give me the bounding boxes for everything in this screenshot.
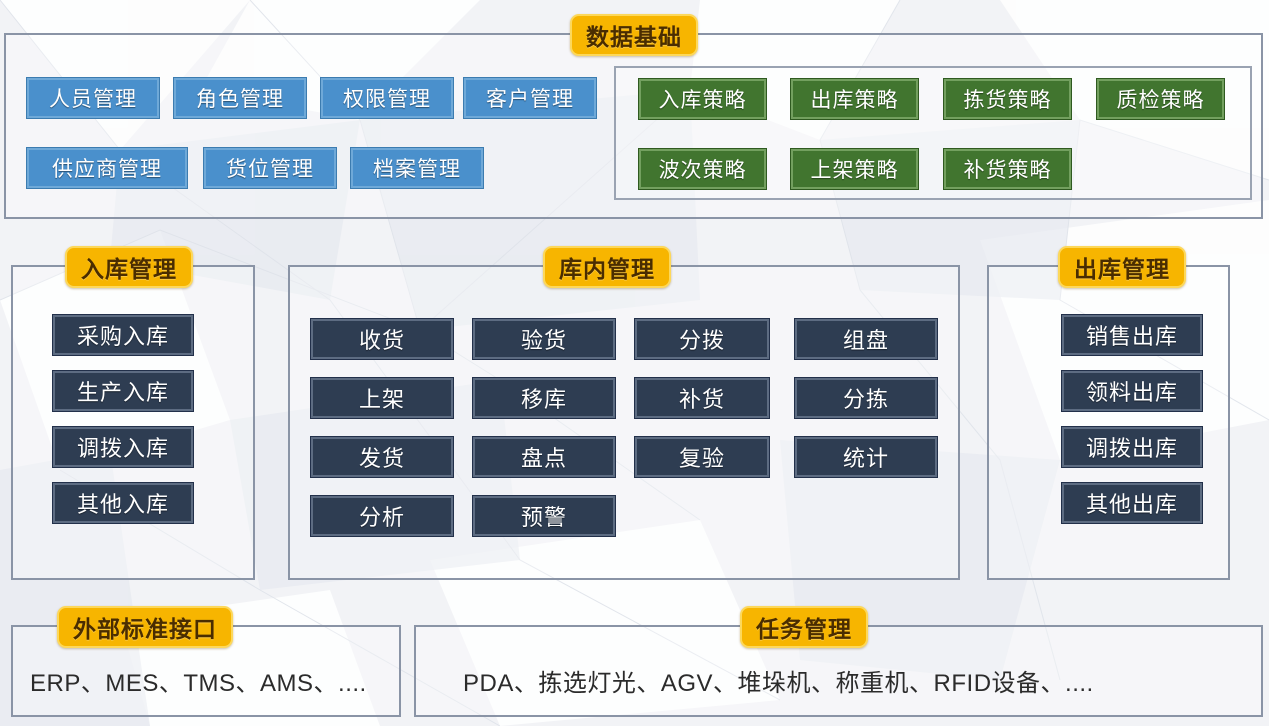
badge-in-warehouse-management: 库内管理 — [543, 246, 671, 288]
panel-inbound-management — [11, 265, 255, 580]
button-inbound-strategy[interactable]: 入库策略 — [639, 79, 766, 119]
button-transfer-inbound[interactable]: 调拨入库 — [53, 427, 193, 467]
button-putaway[interactable]: 上架 — [311, 378, 453, 418]
button-analysis[interactable]: 分析 — [311, 496, 453, 536]
button-move-stock[interactable]: 移库 — [473, 378, 615, 418]
button-material-requisition-outbound[interactable]: 领料出库 — [1062, 371, 1202, 411]
button-sorting[interactable]: 分拣 — [795, 378, 937, 418]
button-outbound-strategy[interactable]: 出库策略 — [791, 79, 918, 119]
button-replenishment-strategy[interactable]: 补货策略 — [944, 149, 1071, 189]
button-pallet-building[interactable]: 组盘 — [795, 319, 937, 359]
panel-outbound-management — [987, 265, 1230, 580]
button-supplier-management[interactable]: 供应商管理 — [27, 148, 187, 188]
button-receiving[interactable]: 收货 — [311, 319, 453, 359]
button-recheck[interactable]: 复验 — [635, 437, 769, 477]
button-production-inbound[interactable]: 生产入库 — [53, 371, 193, 411]
button-permission-management[interactable]: 权限管理 — [321, 78, 453, 118]
button-inspection[interactable]: 验货 — [473, 319, 615, 359]
button-stocktaking[interactable]: 盘点 — [473, 437, 615, 477]
button-role-management[interactable]: 角色管理 — [174, 78, 306, 118]
button-customer-management[interactable]: 客户管理 — [464, 78, 596, 118]
task-management-content: PDA、拣选灯光、AGV、堆垛机、称重机、RFID设备、.... — [463, 662, 1094, 698]
button-quality-inspection-strategy[interactable]: 质检策略 — [1097, 79, 1224, 119]
badge-data-foundation: 数据基础 — [570, 14, 698, 56]
button-allocation[interactable]: 分拨 — [635, 319, 769, 359]
button-archive-management[interactable]: 档案管理 — [351, 148, 483, 188]
button-location-management[interactable]: 货位管理 — [204, 148, 336, 188]
button-shipping[interactable]: 发货 — [311, 437, 453, 477]
button-personnel-management[interactable]: 人员管理 — [27, 78, 159, 118]
badge-task-management: 任务管理 — [740, 606, 868, 648]
button-replenishment[interactable]: 补货 — [635, 378, 769, 418]
button-sales-outbound[interactable]: 销售出库 — [1062, 315, 1202, 355]
button-statistics[interactable]: 统计 — [795, 437, 937, 477]
badge-inbound-management: 入库管理 — [65, 246, 193, 288]
badge-outbound-management: 出库管理 — [1058, 246, 1186, 288]
button-other-outbound[interactable]: 其他出库 — [1062, 483, 1202, 523]
button-transfer-outbound[interactable]: 调拨出库 — [1062, 427, 1202, 467]
button-wave-strategy[interactable]: 波次策略 — [639, 149, 766, 189]
button-alert[interactable]: 预警 — [473, 496, 615, 536]
button-other-inbound[interactable]: 其他入库 — [53, 483, 193, 523]
diagram-stage: 数据基础 人员管理 角色管理 权限管理 客户管理 供应商管理 货位管理 档案管理… — [0, 0, 1269, 726]
button-putaway-strategy[interactable]: 上架策略 — [791, 149, 918, 189]
button-purchase-inbound[interactable]: 采购入库 — [53, 315, 193, 355]
button-picking-strategy[interactable]: 拣货策略 — [944, 79, 1071, 119]
external-interface-content: ERP、MES、TMS、AMS、.... — [30, 662, 367, 698]
badge-external-interface: 外部标准接口 — [57, 606, 233, 648]
